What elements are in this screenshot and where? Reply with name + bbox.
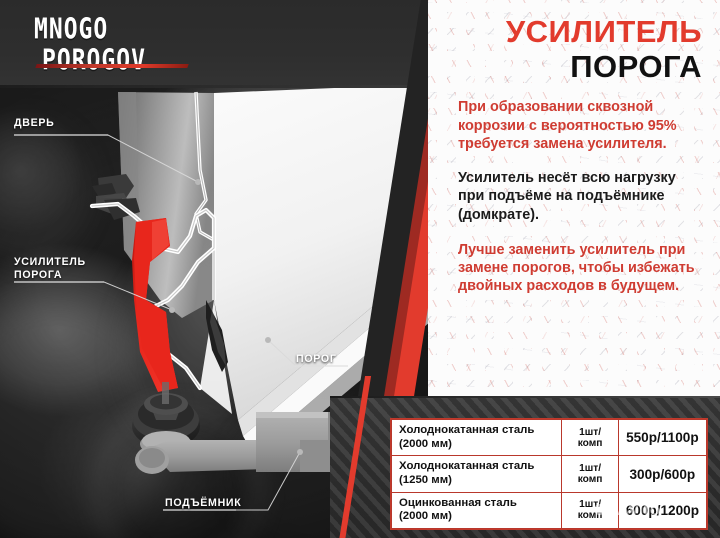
label-amplifier-line1: УСИЛИТЕЛЬ <box>14 256 86 269</box>
paragraph-corrosion: При образовании сквозной коррозии с веро… <box>458 98 702 153</box>
info-panel: УСИЛИТЕЛЬ ПОРОГА При образовании сквозно… <box>428 0 720 403</box>
paragraph-load: Усилитель несёт всю нагрузку при подъёме… <box>458 169 702 224</box>
table-row[interactable]: Холоднокатанная сталь (2000 мм) 1шт/комп… <box>392 420 707 456</box>
material-line2: (1250 мм) <box>399 474 452 486</box>
material-line1: Холоднокатанная сталь <box>399 460 534 472</box>
brand-logo: MNOGO POROGOV <box>34 16 194 70</box>
table-row[interactable]: Холоднокатанная сталь (1250 мм) 1шт/комп… <box>392 456 707 492</box>
page-title: УСИЛИТЕЛЬ ПОРОГА <box>458 16 702 82</box>
table-cell-material: Оцинкованная сталь (2000 мм) <box>392 492 562 528</box>
avito-logo-icon <box>594 501 613 520</box>
brand-logo-line2: POROGOV <box>34 47 194 76</box>
material-line1: Холоднокатанная сталь <box>399 424 534 436</box>
table-cell-price: 550р/1100р <box>618 420 706 456</box>
material-line2: (2000 мм) <box>399 510 452 522</box>
table-cell-material: Холоднокатанная сталь (2000 мм) <box>392 420 562 456</box>
avito-watermark-text: Avito <box>617 500 660 520</box>
avito-watermark: Avito <box>594 500 660 520</box>
info-panel-content: УСИЛИТЕЛЬ ПОРОГА При образовании сквозно… <box>428 0 720 296</box>
label-door: ДВЕРЬ <box>14 117 54 130</box>
brand-logo-underline <box>35 64 188 68</box>
poster-canvas: ДВЕРЬ УСИЛИТЕЛЬ ПОРОГА ПОРОГ ПОДЪЁМНИК M… <box>0 0 720 538</box>
table-cell-material: Холоднокатанная сталь (1250 мм) <box>392 456 562 492</box>
page-title-secondary: ПОРОГА <box>458 51 702 83</box>
table-cell-qty: 1шт/комп <box>562 420 618 456</box>
paragraph-advice: Лучше заменить усилитель при замене поро… <box>458 241 702 296</box>
table-cell-price: 300р/600р <box>618 456 706 492</box>
material-line2: (2000 мм) <box>399 438 452 450</box>
label-sill: ПОРОГ <box>296 353 337 366</box>
brand-logo-line1: MNOGO <box>34 16 194 45</box>
material-line1: Оцинкованная сталь <box>399 497 517 509</box>
label-amplifier: УСИЛИТЕЛЬ ПОРОГА <box>14 256 86 282</box>
label-amplifier-line2: ПОРОГА <box>14 269 86 282</box>
page-title-primary: УСИЛИТЕЛЬ <box>458 16 702 48</box>
table-cell-qty: 1шт/комп <box>562 456 618 492</box>
label-jack: ПОДЪЁМНИК <box>165 497 241 510</box>
